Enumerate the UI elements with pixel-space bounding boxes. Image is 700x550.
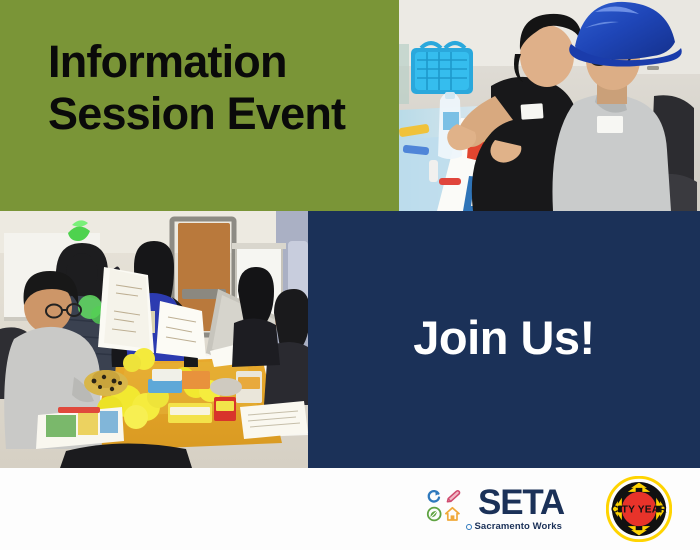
seta-wordmark: SETA — [478, 486, 564, 519]
city-year-text: CITY YEAR — [611, 505, 667, 516]
leaf-circle-icon — [426, 506, 443, 522]
city-year-logo: CITY YEAR — [606, 476, 672, 542]
title-line-1: Information — [48, 36, 388, 88]
green-title-panel: Information Session Event — [0, 0, 399, 211]
seta-logo: SETA Sacramento Works — [426, 486, 565, 532]
city-year-logo-image: CITY YEAR — [606, 476, 672, 542]
tagline-dot-icon — [466, 524, 472, 530]
seta-tagline: Sacramento Works — [475, 521, 563, 532]
join-us-panel: Join Us! — [308, 211, 700, 468]
seta-wordmark-block: SETA Sacramento Works — [466, 486, 565, 532]
photo-students-building-image — [399, 0, 700, 211]
photo-students-building — [399, 0, 700, 211]
seta-icon-grid — [426, 489, 462, 523]
event-flyer: Information Session Event — [0, 0, 700, 550]
title-line-2: Session Event — [48, 88, 388, 140]
photo-classroom-activity — [0, 211, 308, 468]
logo-row: SETA Sacramento Works — [426, 468, 673, 550]
join-us-text: Join Us! — [413, 310, 594, 365]
arrow-circle-icon — [426, 489, 443, 505]
photo-classroom-activity-image — [0, 211, 308, 468]
footer-logo-bar: SETA Sacramento Works — [0, 468, 700, 550]
page-title: Information Session Event — [48, 36, 388, 140]
pencil-icon — [444, 489, 461, 505]
house-icon — [444, 506, 461, 522]
seta-tagline-row: Sacramento Works — [466, 521, 563, 532]
